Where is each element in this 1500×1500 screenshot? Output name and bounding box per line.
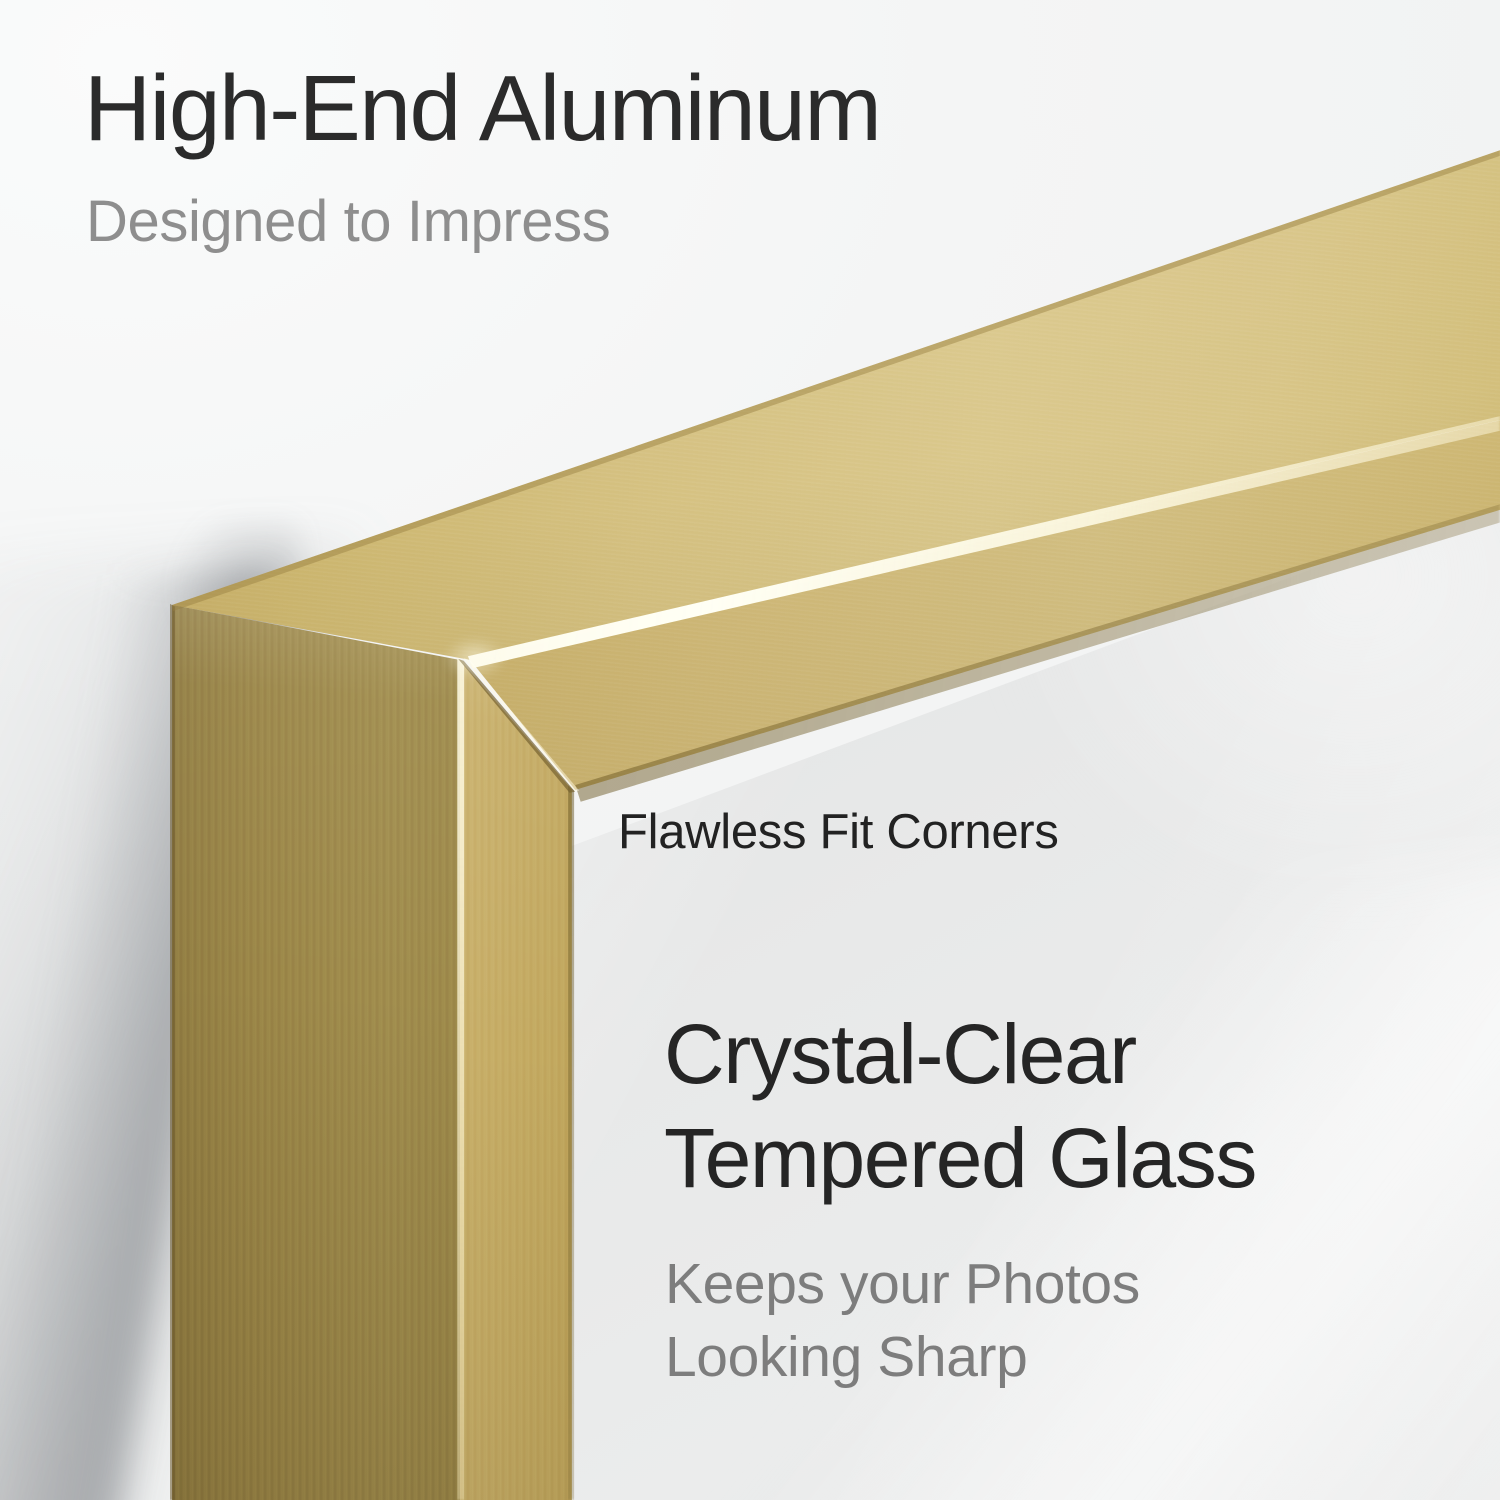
feature-subtitle-line-1: Keeps your Photos	[665, 1248, 1140, 1321]
feature-title: Crystal-Clear Tempered Glass	[664, 1002, 1256, 1210]
page-title: High-End Aluminum	[84, 62, 880, 155]
product-feature-image: High-End Aluminum Designed to Impress Fl…	[0, 0, 1500, 1500]
feature-subtitle: Keeps your Photos Looking Sharp	[665, 1248, 1140, 1394]
page-subtitle: Designed to Impress	[86, 193, 610, 251]
corners-callout-label: Flawless Fit Corners	[618, 808, 1059, 857]
feature-subtitle-line-2: Looking Sharp	[665, 1321, 1140, 1394]
corner-specular-glint	[430, 628, 520, 688]
feature-title-line-2: Tempered Glass	[664, 1106, 1256, 1210]
feature-title-line-1: Crystal-Clear	[664, 1002, 1256, 1106]
